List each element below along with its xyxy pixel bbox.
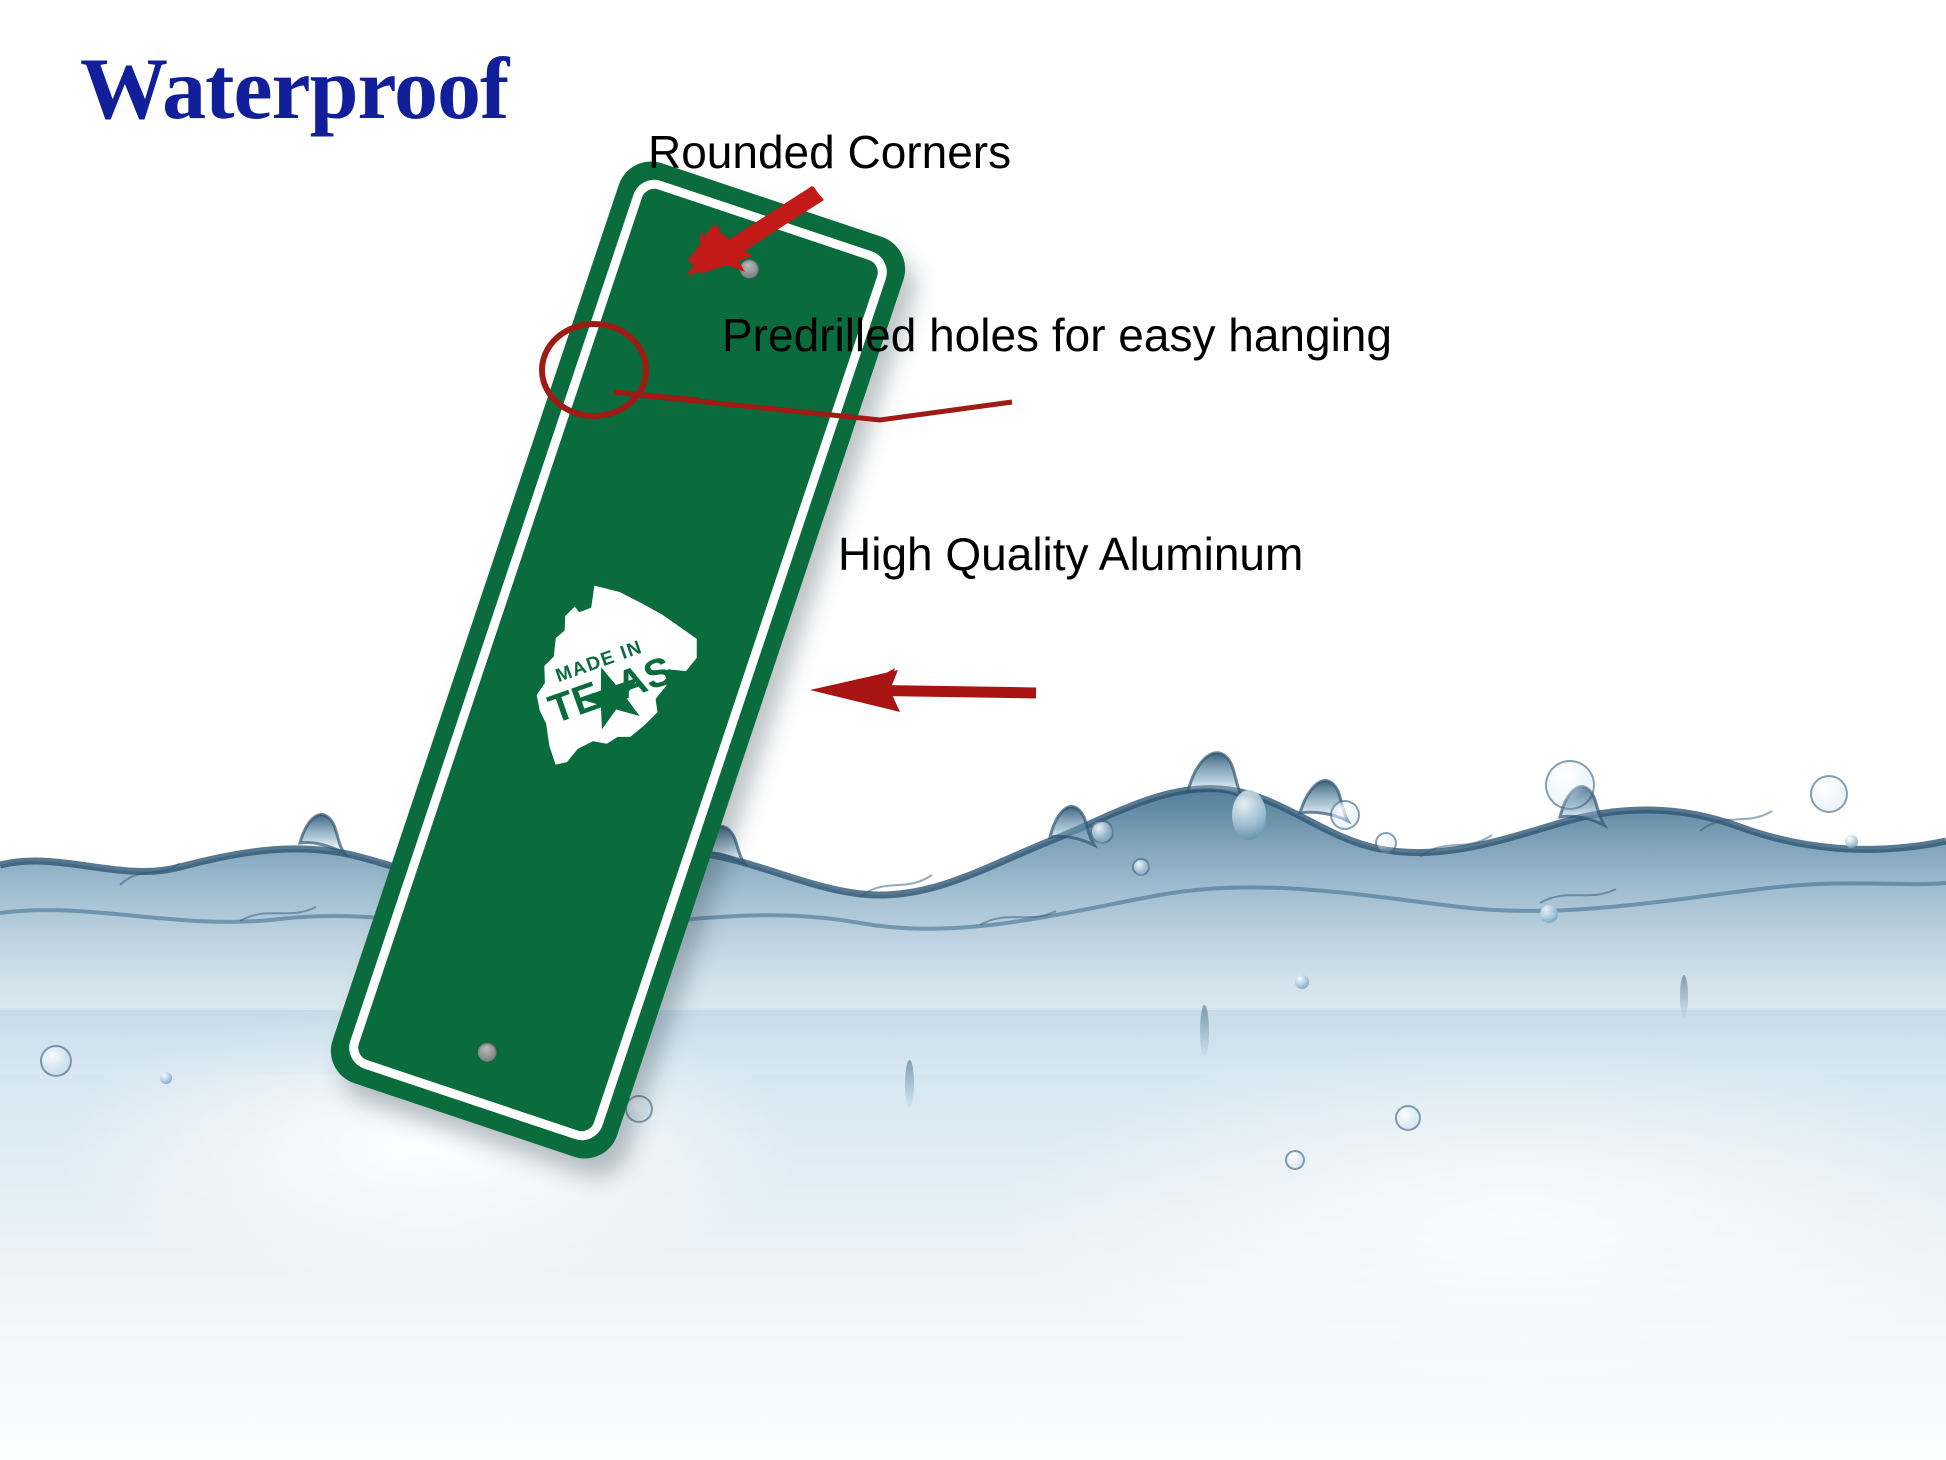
water-bubble: [1132, 858, 1150, 876]
water-bubble: [1285, 1150, 1305, 1170]
water-streak: [1200, 1005, 1209, 1057]
water-droplet: [160, 1072, 172, 1084]
sign-face: MADE IN TE AS: [322, 152, 914, 1167]
water-bubble: [1330, 800, 1360, 830]
callout-label-high-quality-aluminum: High Quality Aluminum: [838, 530, 1303, 578]
callout-label-rounded-corners: Rounded Corners: [648, 128, 1011, 176]
water-bubble: [1395, 1105, 1421, 1131]
callout-label-predrilled-holes: Predrilled holes for easy hanging: [722, 311, 1392, 359]
sign-plate-rotated: MADE IN TE AS: [322, 152, 914, 1167]
water-bubble: [1810, 775, 1848, 813]
water-bubble: [1090, 820, 1114, 844]
page-title: Waterproof: [80, 46, 508, 134]
water-droplet: [1295, 975, 1309, 989]
water-droplet: [1232, 790, 1266, 840]
water-bubble: [1375, 832, 1397, 854]
water-droplet: [1540, 905, 1558, 923]
water-bubble: [1545, 760, 1595, 810]
product-feature-graphic: MADE IN TE AS: [0, 0, 1946, 1460]
water-streak: [1680, 975, 1688, 1019]
water-bubble: [40, 1045, 72, 1077]
water-droplet: [1845, 835, 1858, 848]
